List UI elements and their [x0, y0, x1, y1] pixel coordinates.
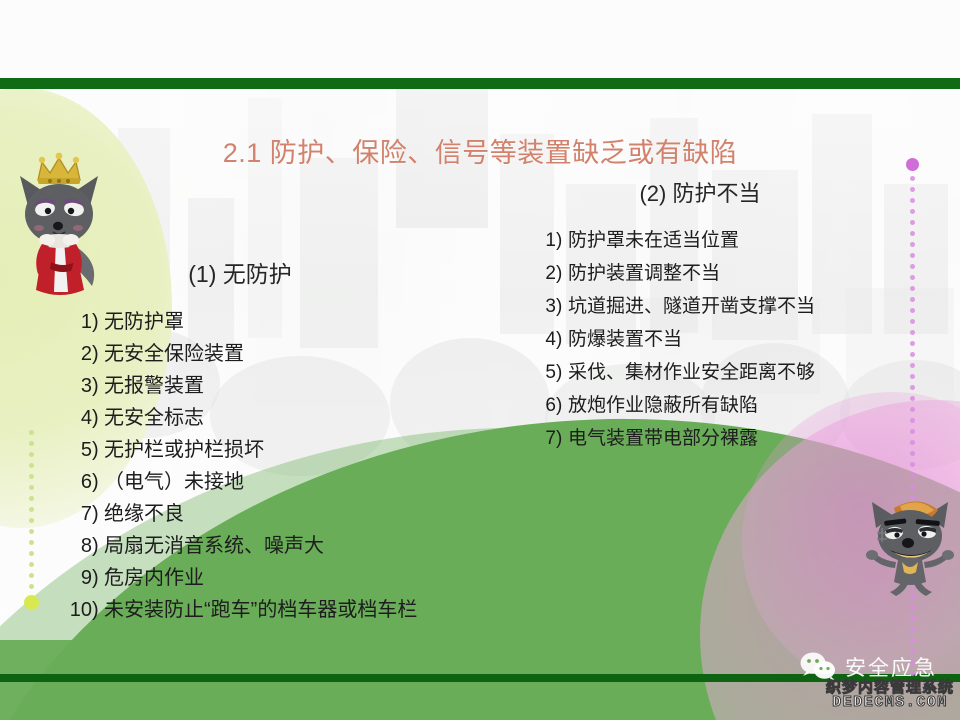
improper-protection-list: 1)防护罩未在适当位置2)防护装置调整不当3)坑道掘进、隧道开凿支撑不当4)防爆…	[540, 225, 815, 456]
section-heading-left: (1) 无防护	[60, 255, 420, 289]
wechat-icon	[800, 652, 836, 682]
no-protection-item-number: 3	[62, 375, 92, 398]
list-item: 7) 绝缘不良	[62, 497, 417, 529]
list-item: 8)局扇无消音系统、噪声大	[62, 529, 417, 561]
improper-protection-item-paren: )	[556, 263, 568, 285]
improper-protection-item-text: 采伐、集材作业安全距离不够	[568, 357, 815, 384]
list-item: 3)无报警装置	[62, 369, 417, 401]
list-item: 4)无安全标志	[62, 401, 417, 433]
no-protection-item-text: 无安全保险装置	[104, 337, 244, 366]
no-protection-item-number: 4	[62, 407, 92, 430]
dedecms-cn-text: 织梦内容管理系统	[826, 680, 954, 695]
no-protection-item-paren: )	[92, 599, 104, 622]
right-dotted-line	[910, 158, 915, 693]
improper-protection-item-paren: )	[556, 296, 568, 318]
list-item: 1)防护罩未在适当位置	[540, 225, 815, 258]
no-protection-item-text: （电气）未接地	[104, 465, 244, 494]
list-item: 1)无防护罩	[62, 305, 417, 337]
left-dotted-line	[29, 430, 34, 610]
no-protection-item-text: 未安装防止“跑车”的档车器或档车栏	[104, 593, 417, 622]
no-protection-item-text: 无护栏或护栏损坏	[104, 433, 264, 462]
no-protection-item-paren: )	[92, 375, 104, 398]
improper-protection-item-text: 防护罩未在适当位置	[568, 225, 739, 252]
no-protection-item-text: 无防护罩	[104, 305, 184, 334]
list-item: 6)放炮作业隐蔽所有缺陷	[540, 390, 815, 423]
improper-protection-item-number: 7	[540, 428, 556, 450]
no-protection-item-paren: )	[92, 407, 104, 430]
improper-protection-item-number: 6	[540, 395, 556, 417]
no-protection-item-text: 无安全标志	[104, 401, 204, 430]
wechat-account-name: 安全应急	[845, 652, 937, 682]
no-protection-item-number: 6	[62, 471, 92, 494]
no-protection-item-number: 2	[62, 343, 92, 366]
improper-protection-item-paren: )	[556, 362, 568, 384]
dedecms-watermark: 织梦内容管理系统 DEDECMS.COM	[826, 680, 954, 711]
list-item: 4)防爆装置不当	[540, 324, 815, 357]
list-item: 5)采伐、集材作业安全距离不够	[540, 357, 815, 390]
list-item: 5)无护栏或护栏损坏	[62, 433, 417, 465]
improper-protection-item-text: 坑道掘进、隧道开凿支撑不当	[568, 291, 815, 318]
improper-protection-item-paren: )	[556, 395, 568, 417]
no-protection-item-number: 9	[62, 567, 92, 590]
list-item: 7)电气装置带电部分裸露	[540, 423, 815, 456]
top-green-bar	[0, 78, 960, 89]
dedecms-en-text: DEDECMS.COM	[826, 695, 954, 710]
improper-protection-item-number: 5	[540, 362, 556, 384]
improper-protection-item-text: 防护装置调整不当	[568, 258, 720, 285]
no-protection-item-paren: )	[92, 535, 104, 558]
no-protection-item-paren: )	[92, 311, 104, 334]
no-protection-item-text: 绝缘不良	[104, 497, 184, 526]
improper-protection-item-paren: )	[556, 428, 568, 450]
list-item: 9)危房内作业	[62, 561, 417, 593]
improper-protection-item-paren: )	[556, 230, 568, 252]
no-protection-item-paren: )	[92, 471, 104, 494]
improper-protection-item-text: 电气装置带电部分裸露	[568, 423, 758, 450]
list-item: 2)防护装置调整不当	[540, 258, 815, 291]
improper-protection-item-number: 2	[540, 263, 556, 285]
improper-protection-item-paren: )	[556, 329, 568, 351]
page-title: 2.1 防护、保险、信号等装置缺乏或有缺陷	[0, 131, 960, 170]
improper-protection-item-number: 4	[540, 329, 556, 351]
improper-protection-item-number: 3	[540, 296, 556, 318]
no-protection-item-paren: )	[92, 567, 104, 590]
list-item: 3)坑道掘进、隧道开凿支撑不当	[540, 291, 815, 324]
no-protection-list: 1)无防护罩2)无安全保险装置3)无报警装置4)无安全标志5)无护栏或护栏损坏6…	[62, 305, 417, 625]
no-protection-item-number: 8	[62, 535, 92, 558]
improper-protection-item-text: 防爆装置不当	[568, 324, 682, 351]
no-protection-item-paren: )	[92, 439, 104, 462]
list-item: 10)未安装防止“跑车”的档车器或档车栏	[62, 593, 417, 625]
no-protection-item-number: 5	[62, 439, 92, 462]
no-protection-item-text: 局扇无消音系统、噪声大	[104, 529, 324, 558]
section-heading-right: (2) 防护不当	[540, 176, 860, 208]
improper-protection-item-text: 放炮作业隐蔽所有缺陷	[568, 390, 758, 417]
no-protection-item-number: 10	[62, 599, 92, 622]
no-protection-item-paren: )	[92, 343, 104, 366]
no-protection-item-text: 无报警装置	[104, 369, 204, 398]
improper-protection-item-number: 1	[540, 230, 556, 252]
no-protection-item-text: 危房内作业	[104, 561, 204, 590]
slide-canvas: 2.1 防护、保险、信号等装置缺乏或有缺陷 (2) 防护不当 (1) 无防护 1…	[0, 0, 960, 720]
wechat-watermark: 安全应急	[800, 652, 937, 682]
no-protection-item-paren: )	[92, 503, 104, 526]
no-protection-item-number: 1	[62, 311, 92, 334]
capped-wolf-mascot	[860, 488, 960, 596]
list-item: 2)无安全保险装置	[62, 337, 417, 369]
no-protection-item-number: 7	[62, 503, 92, 526]
list-item: 6)（电气）未接地	[62, 465, 417, 497]
